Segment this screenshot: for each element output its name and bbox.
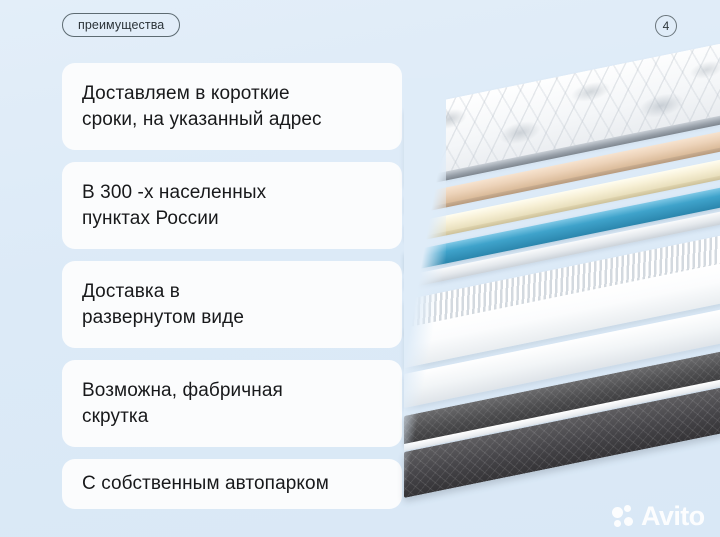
page-number-value: 4	[663, 20, 670, 32]
feature-card: С собственным автопарком	[62, 459, 402, 509]
avito-watermark: Avito	[612, 503, 705, 530]
avito-watermark-label: Avito	[641, 503, 705, 530]
feature-card-text: С собственным автопарком	[82, 471, 329, 497]
slide-root: преимущества 4 Доставляем в короткие сро…	[0, 0, 720, 537]
feature-card-text: Возможна, фабричная скрутка	[82, 378, 283, 430]
feature-card: Доставляем в короткие сроки, на указанны…	[62, 63, 402, 150]
section-badge-label: преимущества	[78, 19, 164, 32]
mattress-layers-image	[404, 78, 720, 518]
feature-card-text: Доставка в развернутом виде	[82, 279, 244, 331]
page-number-indicator: 4	[655, 15, 677, 37]
section-badge: преимущества	[62, 13, 180, 37]
feature-card: В 300 -х населенных пунктах России	[62, 162, 402, 249]
feature-card: Доставка в развернутом виде	[62, 261, 402, 348]
feature-card-text: В 300 -х населенных пунктах России	[82, 180, 266, 232]
feature-card-text: Доставляем в короткие сроки, на указанны…	[82, 81, 322, 133]
avito-logo-icon	[612, 505, 636, 529]
feature-card: Возможна, фабричная скрутка	[62, 360, 402, 447]
feature-card-list: Доставляем в короткие сроки, на указанны…	[62, 63, 402, 521]
